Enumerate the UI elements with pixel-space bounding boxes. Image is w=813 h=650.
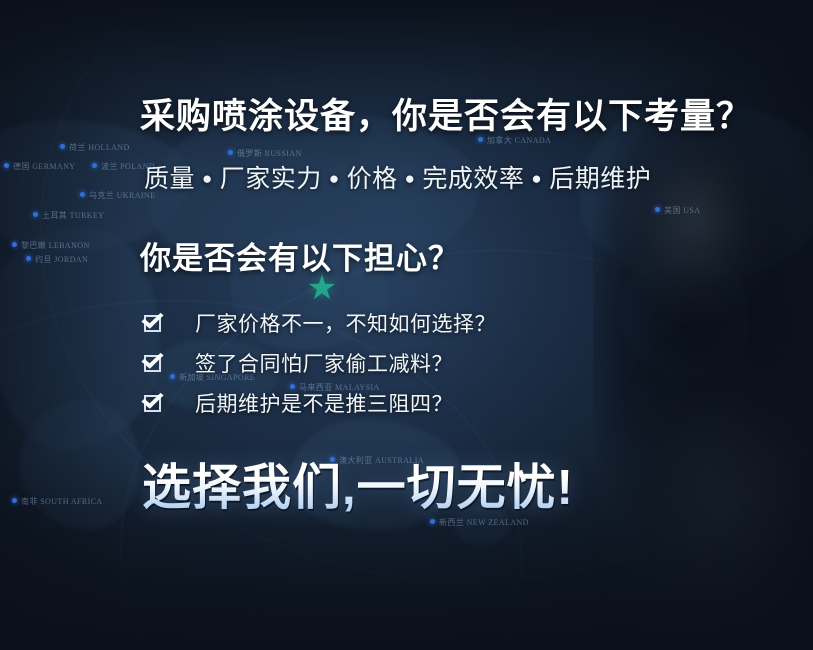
consideration-item: 厂家实力 (220, 165, 322, 193)
map-country-label: 约旦 JORDAN (35, 254, 88, 265)
consideration-item: 质量 (144, 165, 195, 193)
map-marker-dot-icon (26, 256, 31, 261)
worry-item-label: 签了合同怕厂家偷工减料？ (195, 348, 453, 378)
page-title: 采购喷涂设备，你是否会有以下考量？ (140, 88, 752, 139)
bullet-separator-icon: ● (405, 169, 416, 189)
worry-list: 厂家价格不一，不知如何选择？签了合同怕厂家偷工减料？后期维护是不是推三阻四？ (144, 303, 664, 423)
map-country-label: 黎巴嫩 LEBANON (21, 240, 90, 251)
consideration-item: 价格 (347, 165, 398, 193)
map-marker-dot-icon (12, 242, 17, 247)
map-country-label: 南非 SOUTH AFRICA (21, 496, 103, 507)
bullet-separator-icon: ● (531, 169, 542, 189)
map-country-label: 土耳其 TURKEY (42, 210, 104, 221)
map-marker-dot-icon (33, 212, 38, 217)
checkbox-checked-icon (144, 313, 165, 334)
list-item: 后期维护是不是推三阻四？ (144, 383, 664, 423)
map-marker-dot-icon (60, 144, 65, 149)
consideration-item: 后期维护 (549, 165, 651, 193)
worry-item-label: 后期维护是不是推三阻四？ (195, 388, 453, 418)
checkbox-checked-icon (144, 353, 165, 374)
list-item: 签了合同怕厂家偷工减料？ (144, 343, 664, 383)
bullet-separator-icon: ● (329, 169, 340, 189)
map-marker-dot-icon (12, 498, 17, 503)
worry-item-label: 厂家价格不一，不知如何选择？ (195, 308, 496, 338)
checkbox-checked-icon (144, 393, 165, 414)
list-item: 厂家价格不一，不知如何选择？ (144, 303, 664, 343)
map-country-label: 德国 GERMANY (13, 161, 75, 172)
map-marker-dot-icon (92, 163, 97, 168)
slogan-text: 选择我们,一切无忧! (142, 448, 574, 519)
consideration-list: 质量●厂家实力●价格●完成效率●后期维护 (144, 159, 651, 195)
consideration-item: 完成效率 (422, 165, 524, 193)
promo-banner: 荷兰 HOLLAND德国 GERMANY波兰 POLAND乌克兰 UKRAINE… (0, 0, 813, 650)
bullet-separator-icon: ● (202, 169, 213, 189)
map-marker-dot-icon (4, 163, 9, 168)
map-marker-dot-icon (80, 192, 85, 197)
map-country-label: 荷兰 HOLLAND (69, 142, 130, 153)
section-title-worries: 你是否会有以下担心？ (140, 233, 460, 278)
banner-content: 采购喷涂设备，你是否会有以下考量？ 质量●厂家实力●价格●完成效率●后期维护 你… (140, 0, 800, 650)
